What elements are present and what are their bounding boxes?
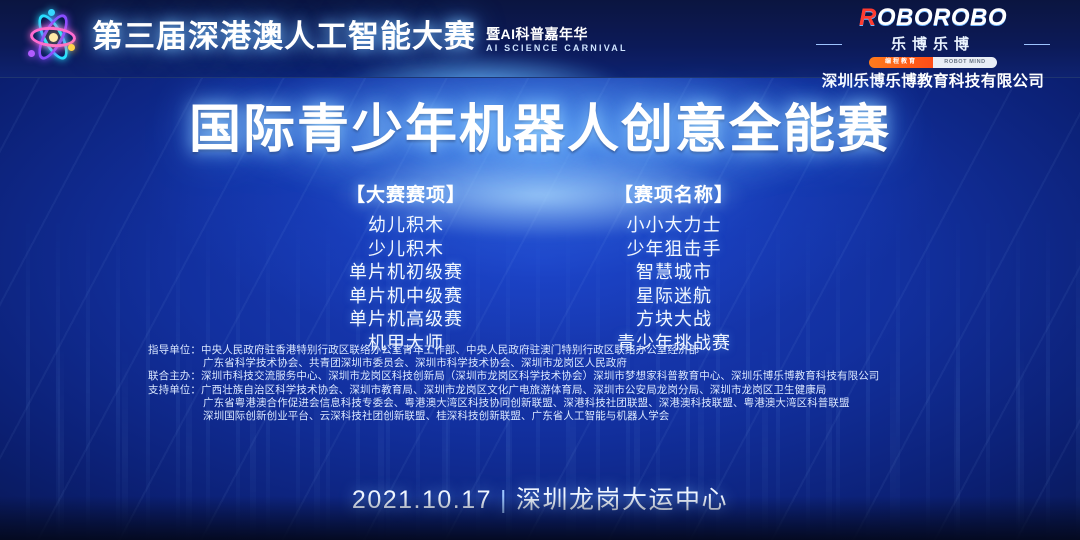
list-item: 单片机初级赛 xyxy=(346,261,466,285)
list-item: 单片机中级赛 xyxy=(346,285,466,309)
sponsor-company-name: 深圳乐博乐博教育科技有限公司 xyxy=(808,69,1058,91)
credit-row: 指导单位： 中央人民政府驻香港特别行政区联络办公室青年工作部、中央人民政府驻澳门… xyxy=(148,344,958,357)
credit-row: 广东省科学技术协会、共青团深圳市委员会、深圳市科学技术协会、深圳市龙岗区人民政府 xyxy=(203,357,958,370)
header-branding: 第三届深港澳人工智能大赛 暨AI科普嘉年华 AI SCIENCE CARNIVA… xyxy=(26,10,628,64)
atom-ai-icon xyxy=(26,10,80,64)
credits-block: 指导单位： 中央人民政府驻香港特别行政区联络办公室青年工作部、中央人民政府驻澳门… xyxy=(148,344,958,423)
credit-text: 广东省粤港澳合作促进会信息科技专委会、粤港澳大湾区科技协同创新联盟、深港科技社团… xyxy=(203,397,850,410)
list-item: 方块大战 xyxy=(614,308,734,332)
poster-canvas: 第三届深港澳人工智能大赛 暨AI科普嘉年华 AI SCIENCE CARNIVA… xyxy=(0,0,1080,540)
list-item: 少年狙击手 xyxy=(614,238,734,262)
competition-category-column: 【大赛赛项】 幼儿积木 少儿积木 单片机初级赛 单片机中级赛 单片机高级赛 机甲… xyxy=(346,180,466,355)
column-header: 【大赛赛项】 xyxy=(346,180,466,207)
page-title: 国际青少年机器人创意全能赛 xyxy=(0,104,1080,156)
credit-text: 广东省科学技术协会、共青团深圳市委员会、深圳市科学技术协会、深圳市龙岗区人民政府 xyxy=(203,357,627,370)
list-item: 单片机高级赛 xyxy=(346,308,466,332)
list-item: 幼儿积木 xyxy=(346,214,466,238)
competition-name-column: 【赛项名称】 小小大力士 少年狙击手 智慧城市 星际迷航 方块大战 青少年挑战赛 xyxy=(614,180,734,355)
credit-label: 指导单位： xyxy=(148,344,201,357)
event-subtitle: 暨AI科普嘉年华 AI SCIENCE CARNIVAL xyxy=(486,26,628,52)
list-item: 少儿积木 xyxy=(346,238,466,262)
credit-text: 深圳市科技交流服务中心、深圳市龙岗区科技创新局（深圳市龙岗区科学技术协会）深圳市… xyxy=(201,370,879,383)
credit-label: 支持单位： xyxy=(148,384,201,397)
event-title: 第三届深港澳人工智能大赛 xyxy=(92,22,476,53)
list-item: 星际迷航 xyxy=(614,285,734,309)
list-item: 智慧城市 xyxy=(614,261,734,285)
credit-text: 中央人民政府驻香港特别行政区联络办公室青年工作部、中央人民政府驻澳门特别行政区联… xyxy=(201,344,699,357)
credit-row: 广东省粤港澳合作促进会信息科技专委会、粤港澳大湾区科技协同创新联盟、深港科技社团… xyxy=(203,397,958,410)
credit-label: 联合主办： xyxy=(148,370,201,383)
brand-name-cn: 乐博乐博 xyxy=(808,33,1058,54)
competition-lists: 【大赛赛项】 幼儿积木 少儿积木 单片机初级赛 单片机中级赛 单片机高级赛 机甲… xyxy=(0,180,1080,355)
credit-row: 支持单位： 广西壮族自治区科学技术协会、深圳市教育局、深圳市龙岗区文化广电旅游体… xyxy=(148,384,958,397)
bottom-fade-decoration xyxy=(0,496,1080,540)
brand-name-en: ROBOROBO xyxy=(808,4,1058,32)
credit-text: 广西壮族自治区科学技术协会、深圳市教育局、深圳市龙岗区文化广电旅游体育局、深圳市… xyxy=(201,384,826,397)
sponsor-company-wrap: 深圳乐博乐博教育科技有限公司 xyxy=(808,60,1058,91)
list-item: 小小大力士 xyxy=(614,214,734,238)
credit-text: 深圳国际创新创业平台、云深科技社团创新联盟、桂深科技创新联盟、广东省人工智能与机… xyxy=(203,410,669,423)
credit-row: 联合主办： 深圳市科技交流服务中心、深圳市龙岗区科技创新局（深圳市龙岗区科学技术… xyxy=(148,370,958,383)
event-subtitle-cn: 暨AI科普嘉年华 xyxy=(486,26,628,42)
column-header: 【赛项名称】 xyxy=(614,180,734,207)
credit-row: 深圳国际创新创业平台、云深科技社团创新联盟、桂深科技创新联盟、广东省人工智能与机… xyxy=(203,410,958,423)
header-title-block: 第三届深港澳人工智能大赛 暨AI科普嘉年华 AI SCIENCE CARNIVA… xyxy=(92,22,628,53)
sponsor-brand: ROBOROBO 乐博乐博 编程教育 ROBOT MIND xyxy=(808,4,1058,68)
event-subtitle-en: AI SCIENCE CARNIVAL xyxy=(486,43,628,53)
